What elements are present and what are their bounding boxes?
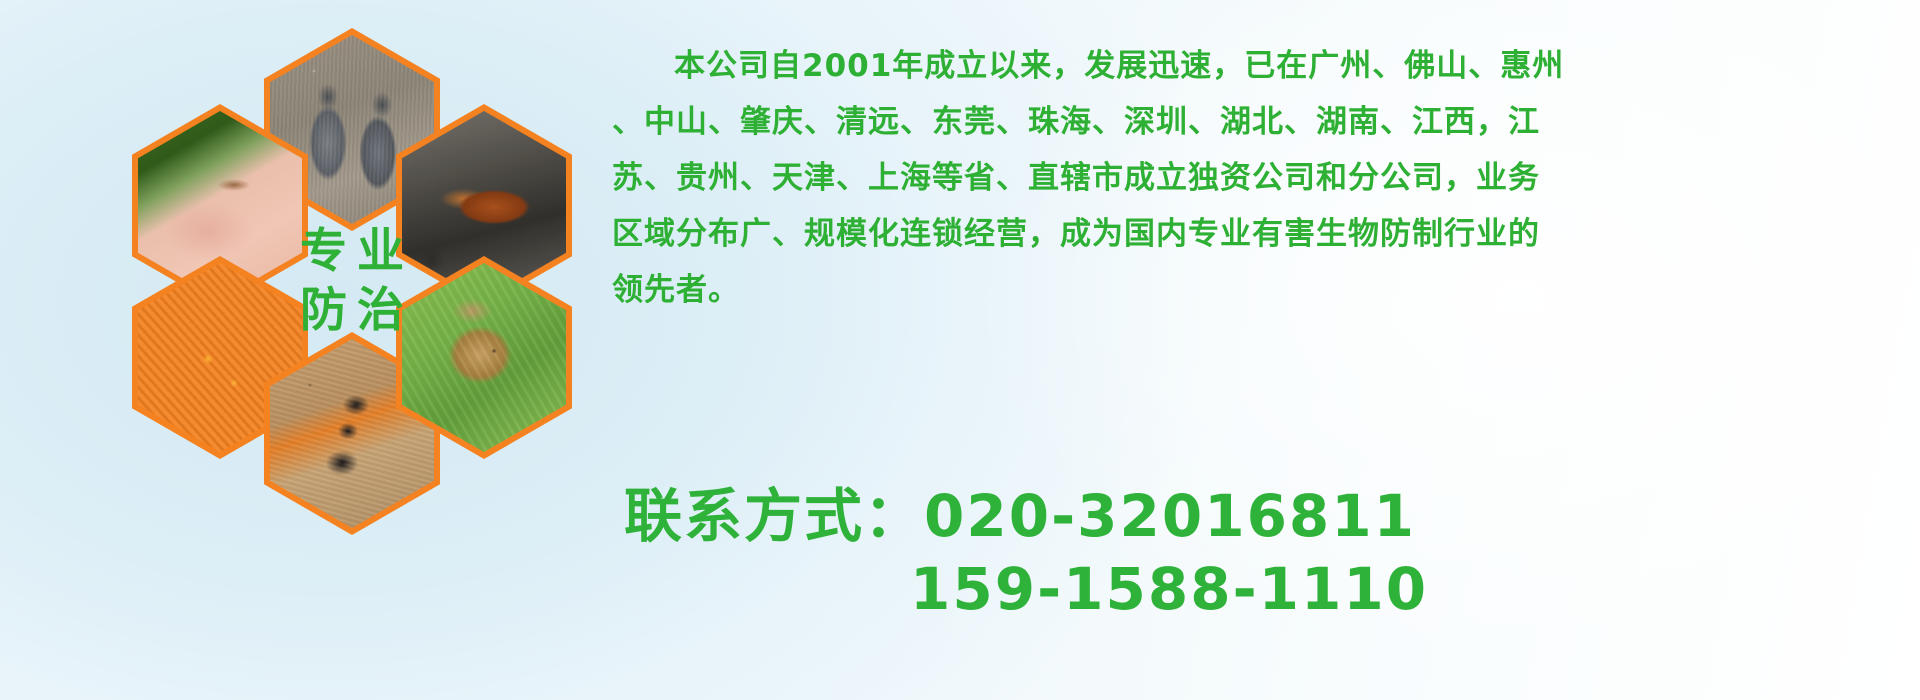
intro-line-5: 领先者。 xyxy=(612,262,1902,318)
intro-line-4: 区域分布广、规模化连锁经营，成为国内专业有害生物防制行业的 xyxy=(612,206,1902,262)
center-label-line1: 专业 xyxy=(290,227,414,278)
banner-content: 本公司自2001年成立以来，发展迅速，已在广州、佛山、惠州 、中山、肇庆、清远、… xyxy=(612,0,1912,700)
company-intro-paragraph: 本公司自2001年成立以来，发展迅速，已在广州、佛山、惠州 、中山、肇庆、清远、… xyxy=(612,38,1902,318)
contact-block: 联系方式：020-32016811 159-1588-1110 xyxy=(612,480,1902,626)
intro-line-3: 苏、贵州、天津、上海等省、直辖市成立独资公司和分公司，业务 xyxy=(612,150,1902,206)
pest-control-banner: 专业 防治 本公司自2001年成立以来，发展迅速，已在广州、佛山、惠州 、中山、… xyxy=(0,0,1920,700)
contact-phone-mobile[interactable]: 159-1588-1110 xyxy=(612,552,1902,626)
center-label-line2: 防治 xyxy=(290,286,414,337)
intro-line-1: 本公司自2001年成立以来，发展迅速，已在广州、佛山、惠州 xyxy=(612,38,1902,94)
hex-photo-cluster: 专业 防治 xyxy=(88,6,588,576)
intro-line-2: 、中山、肇庆、清远、东莞、珠海、深圳、湖北、湖南、江西，江 xyxy=(612,94,1902,150)
contact-phone-landline[interactable]: 联系方式：020-32016811 xyxy=(612,480,1902,552)
